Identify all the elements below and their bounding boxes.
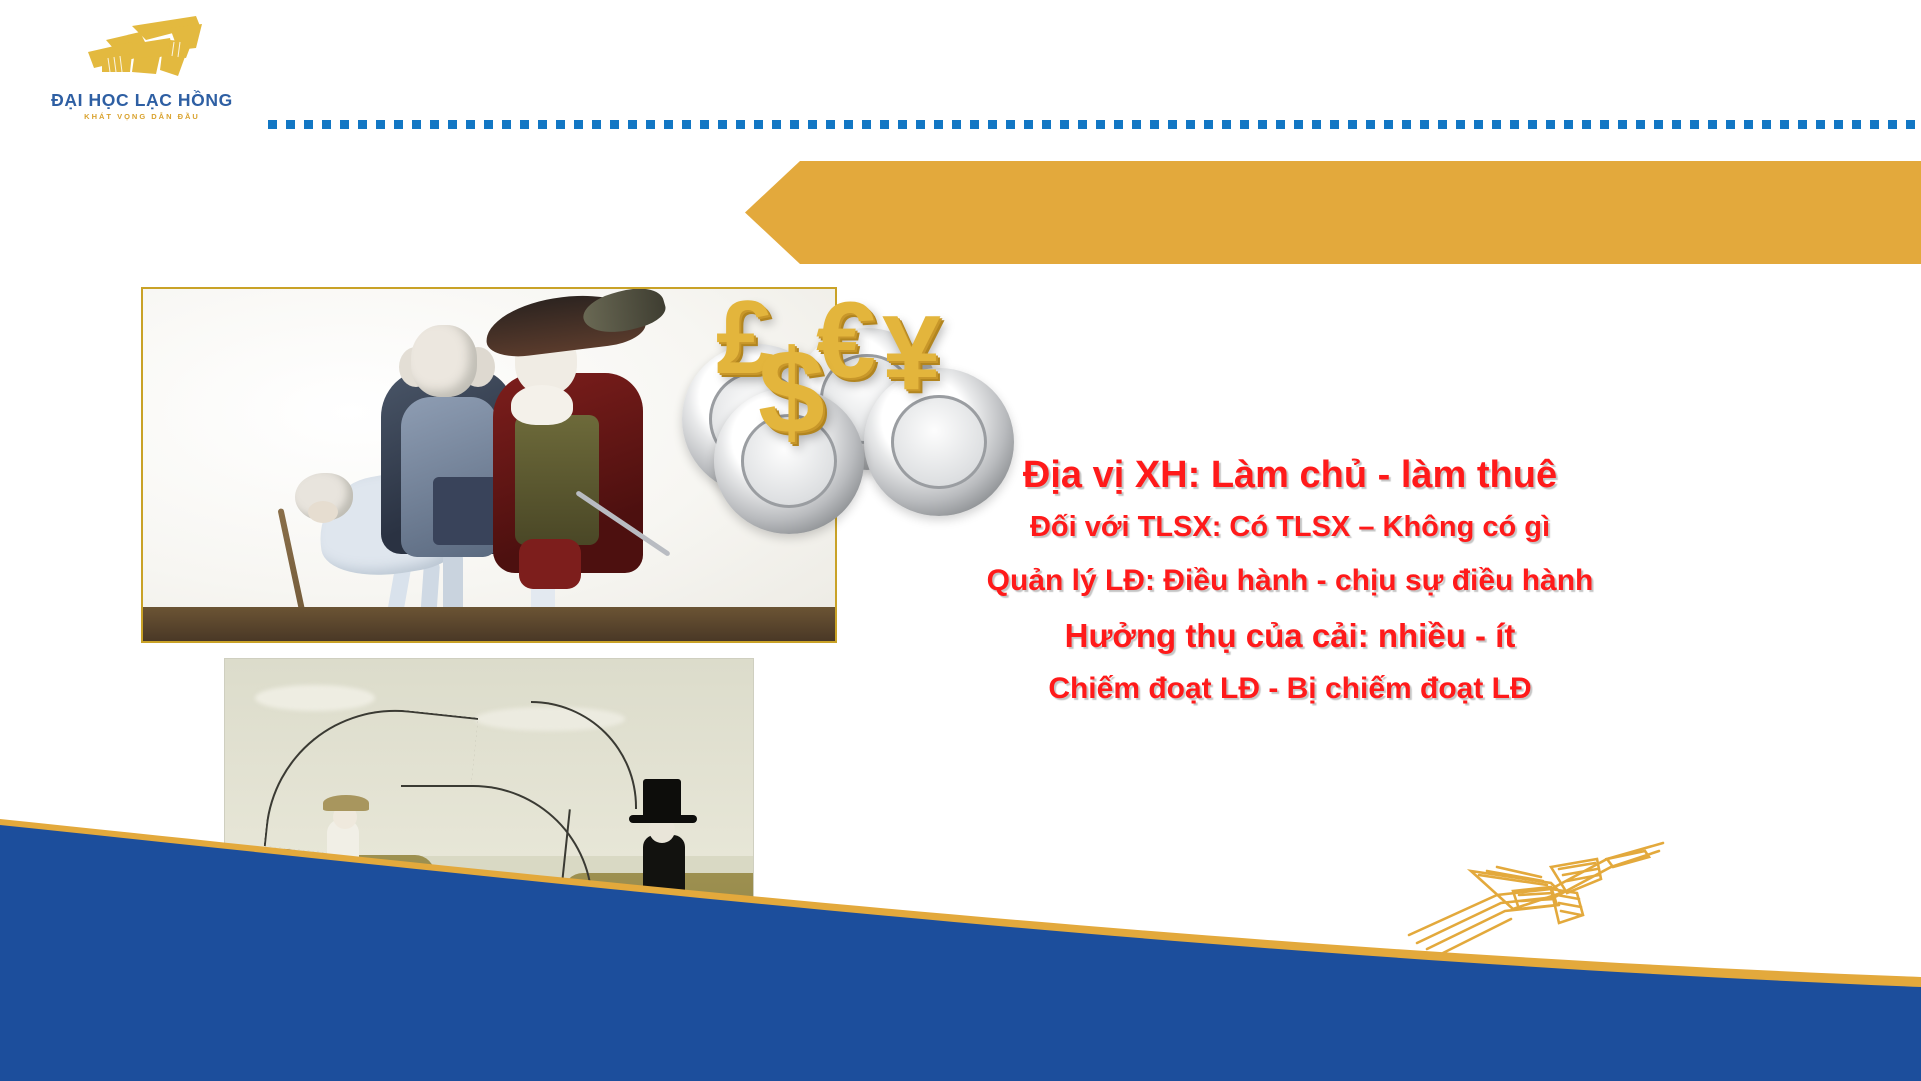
header-dotted-divider	[268, 120, 1921, 129]
bird-plane-decor-icon	[1401, 831, 1671, 961]
poor-man-body	[327, 819, 359, 905]
cartoon-noble-cravat	[511, 385, 573, 425]
fishing-bobber	[555, 947, 573, 959]
label-giau: GIÀU	[605, 909, 672, 940]
gold-chevron-banner	[745, 161, 1921, 264]
content-line-2: Đối với TLSX: Có TLSX – Không có gì	[940, 512, 1640, 543]
slide: ĐẠI HỌC LẠC HỒNG KHÁT VỌNG DẪN ĐẦU	[0, 0, 1921, 1081]
cartoon-noble-vest	[515, 415, 599, 545]
cartoon-noble-breeches	[519, 539, 581, 589]
brand-tagline: KHÁT VỌNG DẪN ĐẦU	[22, 112, 262, 121]
cartoon-peasant-hand	[308, 501, 338, 523]
bird-plane-logo-icon	[74, 14, 234, 86]
yen-symbol-icon: ¥	[882, 300, 941, 406]
content-line-4: Hưởng thụ của cải: nhiều - ít	[940, 618, 1640, 654]
brand-logo[interactable]: ĐẠI HỌC LẠC HỒNG KHÁT VỌNG DẪN ĐẦU	[22, 14, 262, 134]
cartoon-cleric-pocket	[433, 477, 501, 545]
content-text-block: Địa vị XH: Làm chủ - làm thuê Đối với TL…	[940, 455, 1640, 706]
content-line-1: Địa vị XH: Làm chủ - làm thuê	[940, 455, 1640, 496]
euro-symbol-icon: €	[816, 286, 876, 394]
dollar-symbol-icon: $	[758, 332, 825, 452]
cartoon-cleric-head	[411, 325, 477, 397]
content-line-5: Chiếm đoạt LĐ - Bị chiếm đoạt LĐ	[940, 673, 1640, 705]
fishing-cartoon-image: NGHÈO GIÀU	[224, 658, 754, 978]
content-line-3: Quản lý LĐ: Điều hành - chịu sự điều hàn…	[940, 565, 1640, 597]
brand-name: ĐẠI HỌC LẠC HỒNG	[22, 90, 262, 111]
cartoon-ground	[143, 607, 835, 641]
label-ngheo: NGHÈO	[283, 909, 381, 940]
poor-man-hat	[323, 795, 369, 811]
cartoon-shoe	[378, 641, 418, 643]
rich-man-top-hat	[643, 779, 681, 821]
fishing-cloud	[255, 685, 375, 711]
